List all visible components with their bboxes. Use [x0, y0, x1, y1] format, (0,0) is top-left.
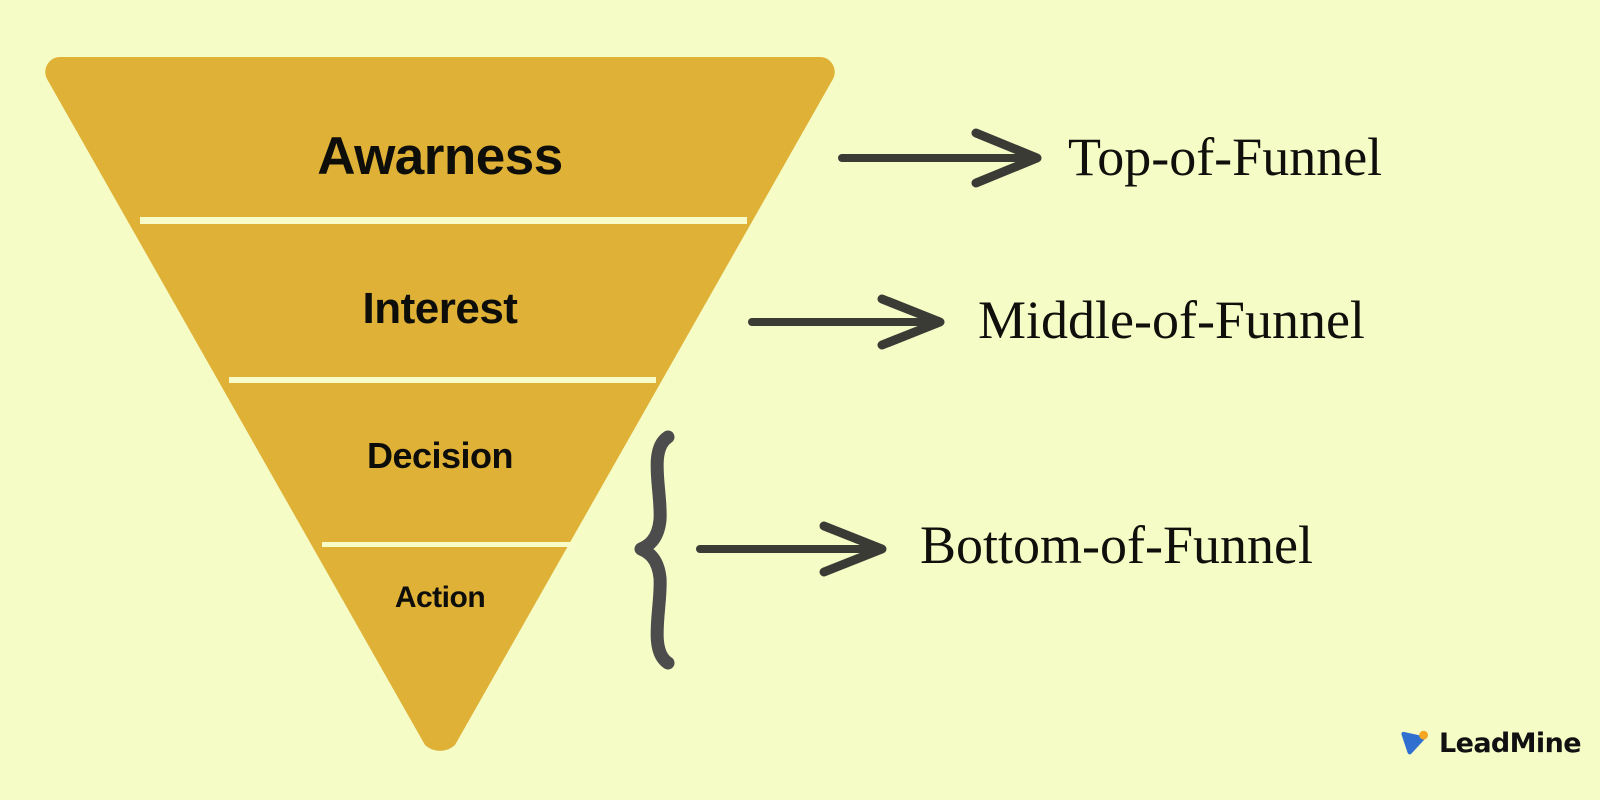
arrow-bottom-of-funnel [700, 526, 882, 572]
funnel-stage-label-interest: Interest [0, 287, 880, 331]
funnel-stage-label-action: Action [0, 583, 880, 613]
callout-label-top-of-funnel: Top-of-Funnel [1068, 130, 1382, 184]
leadmine-logo: LeadMine [1398, 726, 1581, 760]
funnel-stage-label-decision: Decision [0, 438, 880, 474]
funnel-graphics [0, 0, 1600, 800]
funnel-stage-label-awareness: Awarness [0, 130, 880, 183]
callout-label-bottom-of-funnel: Bottom-of-Funnel [920, 518, 1313, 572]
funnel-divider-2 [229, 377, 656, 383]
leadmine-wordmark: LeadMine [1439, 730, 1581, 757]
funnel-divider-3 [322, 542, 578, 547]
callout-label-middle-of-funnel: Middle-of-Funnel [978, 293, 1365, 347]
leadmine-mark-icon [1398, 726, 1432, 760]
funnel-diagram-canvas: Awarness Interest Decision Action Top-of… [0, 0, 1600, 800]
funnel-divider-1 [140, 217, 747, 224]
